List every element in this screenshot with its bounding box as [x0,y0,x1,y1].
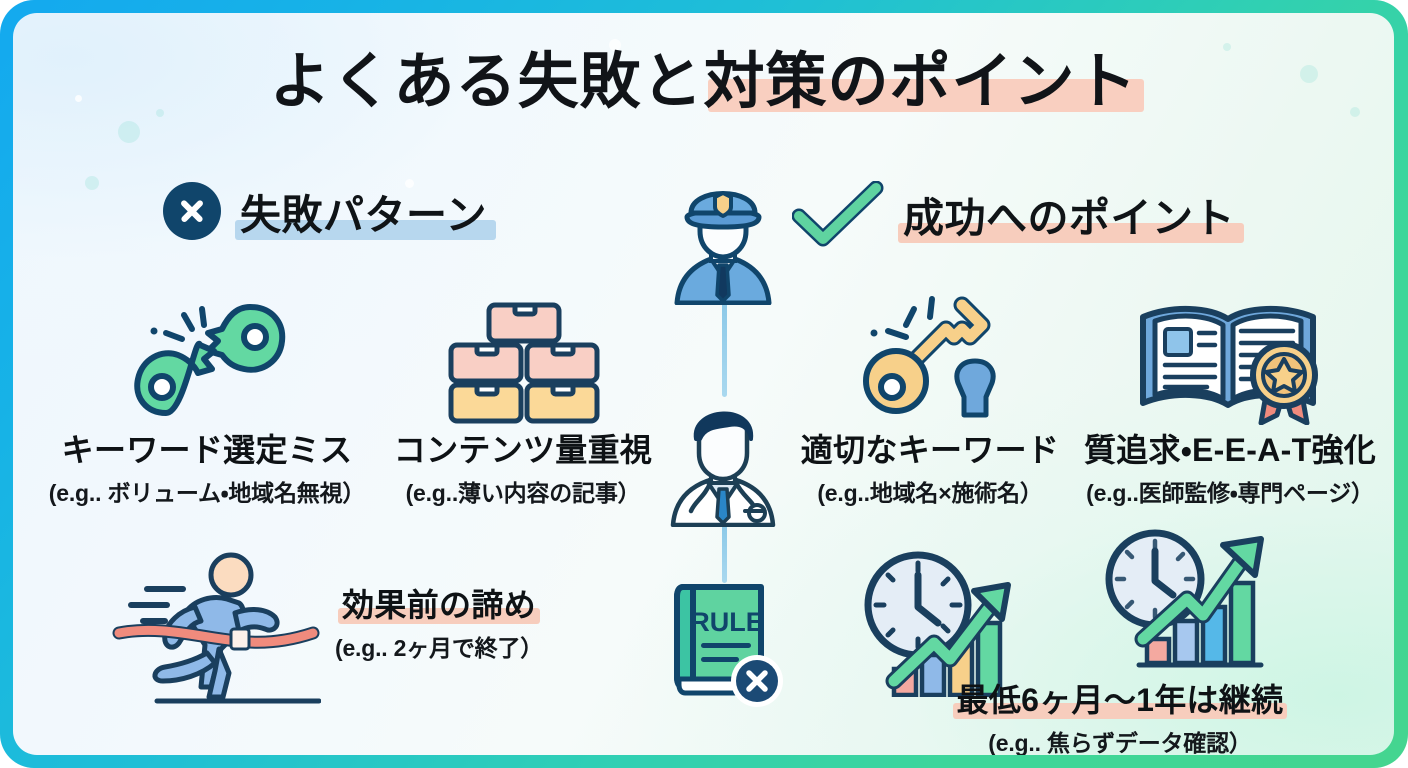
decor-dot [118,121,140,143]
failure-item-volume: コンテンツ量重視 (e.g..薄い内容の記事） [371,285,675,508]
infographic-frame: よくある失敗と対策のポイント 失敗パターン 成功へのポイント [0,0,1408,768]
circle-x-icon [163,182,221,240]
book-medal-icon-box [1065,285,1394,425]
success-header-label-wrap: 成功へのポイント [898,184,1240,244]
doctor-icon [665,401,781,527]
runner-finish-line-icon [109,537,321,705]
success-header-label: 成功へのポイント [903,195,1235,241]
page-title: よくある失敗と対策のポイント [269,49,1137,114]
success-item-duration-title: 最低6ヶ月〜1年は継続 [957,682,1284,718]
success-item-eeat: 質追求・E-E-A-T強化 (e.g..医師監修・専門ページ） [1065,285,1394,508]
stacked-boxes-icon-box [371,285,675,425]
success-item-duration: 最低6ヶ月〜1年は継続 (e.g.. 焦らずデータ確認） [845,525,1394,755]
success-item-eeat-example: (e.g..医師監修・専門ページ） [1065,474,1394,508]
svg-text:RULE: RULE [690,607,764,637]
success-item-keyword-example: (e.g..地域名×施術名） [785,474,1075,508]
failure-item-keyword-main-wrap: キーワード選定ミス [58,425,357,471]
check-mark-icon [792,181,884,247]
title-container: よくある失敗と対策のポイント [13,49,1394,114]
failure-item-volume-title: コンテンツ量重視 [394,432,652,468]
success-item-duration-example: (e.g.. 焦らずデータ確認） [845,724,1394,755]
clock-growth-chart-icon-box [845,525,1394,675]
clock-growth-chart-icon [1095,527,1275,675]
failure-item-volume-example: (e.g..薄い内容の記事） [371,474,675,508]
failure-item-keyword-example: (e.g.. ボリューム・地域名無視） [47,474,367,508]
success-item-keyword: 適切なキーワード (e.g..地域名×施術名） [785,285,1075,508]
failure-item-giveup-main-wrap: 効果前の諦め [338,580,540,626]
broken-key-icon [122,293,292,425]
success-item-eeat-main-wrap: 質追求・E-E-A-T強化 [1080,425,1380,471]
stacked-boxes-icon [443,299,603,425]
infographic-canvas: よくある失敗と対策のポイント 失敗パターン 成功へのポイント [13,13,1394,755]
book-medal-icon [1135,295,1325,425]
title-text: よくある失敗と対策のポイント [269,47,1137,115]
broken-key-icon-box [47,285,367,425]
failure-item-keyword-title: キーワード選定ミス [62,432,353,468]
failure-header-label-wrap: 失敗パターン [235,181,492,241]
success-item-keyword-title: 適切なキーワード [801,432,1059,468]
rule-book-x-icon: RULE [669,569,787,709]
key-keyhole-icon [850,293,1010,425]
decor-dot [85,176,99,190]
failure-header-label: 失敗パターン [240,192,487,238]
success-item-keyword-main-wrap: 適切なキーワード [797,425,1063,471]
failure-item-giveup-example: (e.g.. 2ヶ月で終了） [335,629,543,663]
success-item-eeat-title: 質追求・E-E-A-T強化 [1084,432,1376,468]
success-column-header: 成功へのポイント [792,181,1240,247]
failure-column-header: 失敗パターン [163,181,492,241]
failure-item-giveup-title: 効果前の諦め [342,587,536,623]
failure-item-volume-main-wrap: コンテンツ量重視 [390,425,656,471]
center-connector-line [722,301,727,397]
failure-item-giveup: 効果前の諦め (e.g.. 2ヶ月で終了） [109,537,629,705]
key-keyhole-icon-box [785,285,1075,425]
police-officer-icon [667,173,779,305]
failure-item-giveup-text: 効果前の諦め (e.g.. 2ヶ月で終了） [335,580,543,663]
failure-item-keyword: キーワード選定ミス (e.g.. ボリューム・地域名無視） [47,285,367,508]
success-item-duration-main-wrap: 最低6ヶ月〜1年は継続 [953,675,1288,721]
